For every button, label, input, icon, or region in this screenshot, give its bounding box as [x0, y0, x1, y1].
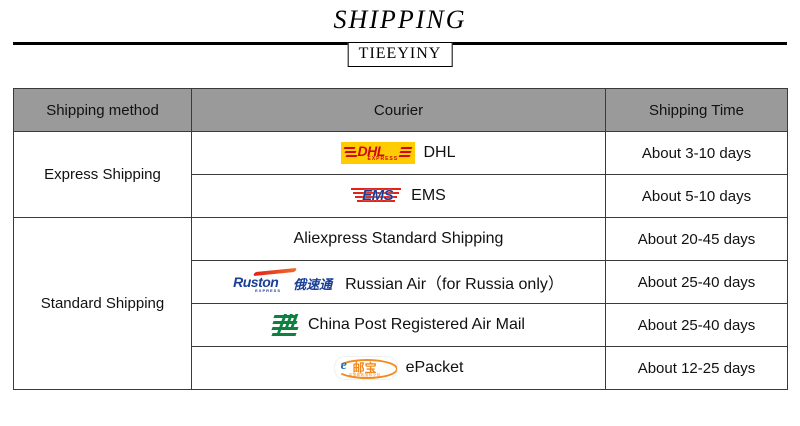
courier-cell-dhl: DHL EXPRESS DHL: [192, 132, 606, 175]
time-cell: About 25-40 days: [606, 261, 788, 304]
china-post-logo-icon: [272, 312, 300, 338]
ruston-logo-subtext: EXPRESS: [255, 288, 281, 293]
ruston-logo-chinese: 俄速通: [293, 274, 332, 293]
dhl-logo-subtext: EXPRESS: [367, 156, 398, 162]
table-header: Shipping method Courier Shipping Time: [14, 89, 788, 132]
ems-logo-icon: EMS: [351, 185, 403, 207]
epacket-logo-e: e: [341, 358, 347, 374]
method-cell-standard: Standard Shipping: [14, 218, 192, 390]
courier-label: Aliexpress Standard Shipping: [294, 230, 504, 248]
shipping-info-page: SHIPPING TIEEYINY Shipping method Courie…: [0, 0, 800, 426]
table-body: Express Shipping DHL EXPRESS DHL: [14, 132, 788, 390]
courier-cell-ems: EMS EMS: [192, 175, 606, 218]
header-courier: Courier: [192, 89, 606, 132]
courier-label: China Post Registered Air Mail: [308, 316, 525, 334]
header-row: Shipping method Courier Shipping Time: [14, 89, 788, 132]
method-cell-express: Express Shipping: [14, 132, 192, 218]
shipping-table-wrapper: Shipping method Courier Shipping Time Ex…: [13, 88, 787, 390]
brand-badge: TIEEYINY: [348, 42, 453, 67]
time-cell: About 3-10 days: [606, 132, 788, 175]
courier-label: DHL: [423, 144, 455, 162]
courier-cell-china-post: China Post Registered Air Mail: [192, 304, 606, 347]
courier-label: Russian Air（for Russia only）: [345, 270, 564, 294]
courier-cell-aliexpress: Aliexpress Standard Shipping: [192, 218, 606, 261]
courier-cell-epacket: e 邮宝 中国邮政国际小包 ePacket: [192, 347, 606, 390]
courier-label: EMS: [411, 187, 446, 205]
epacket-logo-icon: e 邮宝 中国邮政国际小包: [334, 356, 398, 380]
ems-logo-text: EMS: [362, 187, 393, 204]
table-row: Express Shipping DHL EXPRESS DHL: [14, 132, 788, 175]
courier-label: ePacket: [406, 359, 464, 377]
time-cell: About 12-25 days: [606, 347, 788, 390]
courier-cell-russian-air: Ruston EXPRESS 俄速通 Russian Air（for Russi…: [192, 261, 606, 304]
header-shipping-time: Shipping Time: [606, 89, 788, 132]
time-cell: About 25-40 days: [606, 304, 788, 347]
dhl-logo-icon: DHL EXPRESS: [341, 142, 415, 164]
shipping-table: Shipping method Courier Shipping Time Ex…: [13, 88, 788, 390]
time-cell: About 5-10 days: [606, 175, 788, 218]
epacket-logo-tiny-text: 中国邮政国际小包: [349, 373, 381, 378]
time-cell: About 20-45 days: [606, 218, 788, 261]
table-row: Standard Shipping Aliexpress Standard Sh…: [14, 218, 788, 261]
page-title: SHIPPING: [0, 5, 800, 35]
header-shipping-method: Shipping method: [14, 89, 192, 132]
ruston-logo-icon: Ruston EXPRESS 俄速通: [233, 270, 337, 294]
banner: SHIPPING TIEEYINY: [0, 0, 800, 86]
